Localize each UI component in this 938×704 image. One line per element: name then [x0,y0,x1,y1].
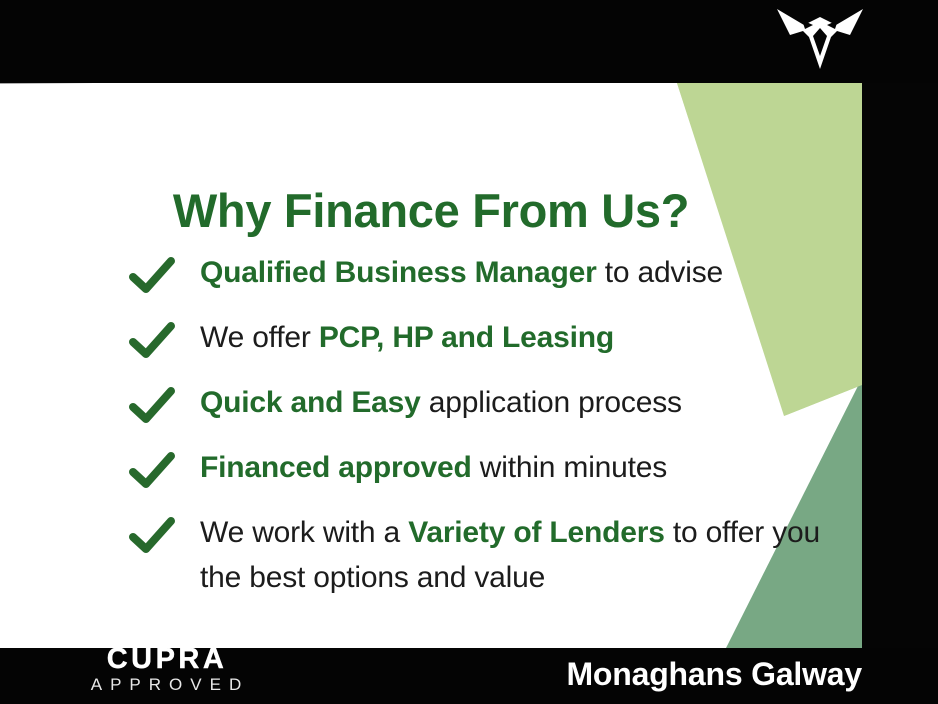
list-item-plain: We offer [200,321,319,354]
list-item-highlight: PCP, HP and Leasing [319,321,614,354]
list-item: Financed approved within minutes [128,445,828,493]
list-item-text: Financed approved within minutes [200,445,667,490]
check-icon [128,449,176,493]
benefits-list: Qualified Business Manager to advise We … [128,250,828,617]
slide-canvas: Why Finance From Us? Qualified Business … [0,0,938,704]
top-black-bar [0,0,938,83]
list-item: Qualified Business Manager to advise [128,250,828,298]
dealer-name: Monaghans Galway [566,656,862,693]
list-item-text: Qualified Business Manager to advise [200,250,723,295]
check-icon [128,254,176,298]
list-item-plain: within minutes [472,451,667,484]
check-icon [128,319,176,363]
list-item: Quick and Easy application process [128,380,828,428]
list-item-highlight: Qualified Business Manager [200,256,597,289]
list-item: We offer PCP, HP and Leasing [128,315,828,363]
cupra-tribal-logo-icon [774,6,866,72]
list-item-text: Quick and Easy application process [200,380,682,425]
cupra-wordmark: CUPRA [72,645,262,674]
list-item-plain: to advise [597,256,723,289]
list-item-plain: We work with a [200,516,408,549]
list-item-highlight: Variety of Lenders [408,516,665,549]
page-title: Why Finance From Us? [0,183,862,238]
list-item-highlight: Quick and Easy [200,386,421,419]
approved-subtext: APPROVED [72,674,262,696]
list-item-plain: application process [421,386,682,419]
list-item-text: We offer PCP, HP and Leasing [200,315,614,360]
check-icon [128,384,176,428]
check-icon [128,514,176,558]
list-item-highlight: Financed approved [200,451,472,484]
list-item-text: We work with a Variety of Lenders to off… [200,510,828,600]
cupra-approved-logo: CUPRA APPROVED [72,645,262,696]
list-item: We work with a Variety of Lenders to off… [128,510,828,600]
